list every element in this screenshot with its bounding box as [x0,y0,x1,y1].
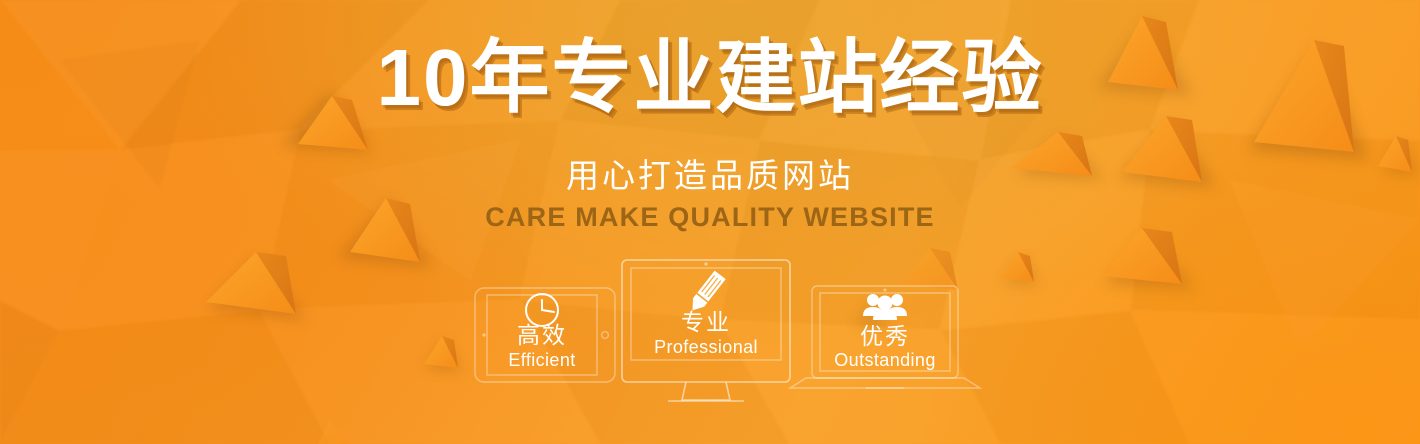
feature-label-cn: 专业 [681,309,731,335]
feature-label-en: Professional [654,337,758,357]
feature-devices-group: 高效 Efficient 专业 Professional [0,0,1420,444]
feature-label-en: Outstanding [834,350,935,370]
monitor-camera [704,262,707,265]
laptop-camera [884,289,887,292]
promo-banner: 10年专业建站经验 用心打造品质网站 CARE MAKE QUALITY WEB… [0,0,1420,444]
tablet-camera [482,333,485,336]
feature-card-professional[interactable]: 专业 Professional [622,260,790,401]
laptop-base [790,378,980,388]
people-icon [863,294,907,320]
feature-card-outstanding[interactable]: 优秀 Outstanding [790,286,980,388]
monitor-stand-neck [682,382,730,400]
tablet-home-button [602,332,609,339]
feature-card-efficient[interactable]: 高效 Efficient [475,288,615,382]
feature-label-cn: 高效 [517,322,567,348]
feature-label-cn: 优秀 [860,323,910,349]
feature-label-en: Efficient [508,350,575,370]
